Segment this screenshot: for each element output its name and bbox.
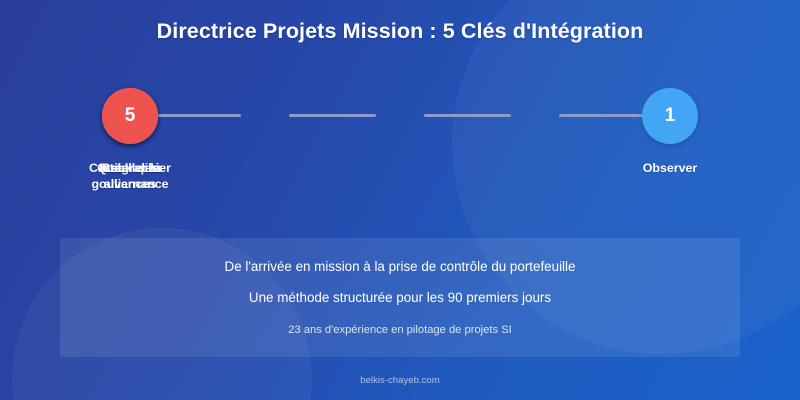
summary-line-1: De l'arrivée en mission à la prise de co… (60, 259, 740, 274)
page-title: Directrice Projets Mission : 5 Clés d'In… (0, 19, 800, 44)
steps-timeline: 1 Observer 2 Cartographier 3 Créer des a… (62, 88, 738, 208)
step-item-1[interactable]: 1 Observer (602, 88, 738, 176)
step-connector-3-4 (424, 114, 511, 117)
step-label-1: Observer (602, 160, 738, 176)
step-connector-2-3 (289, 114, 376, 117)
step-number-badge-1: 1 (642, 88, 698, 144)
infographic-slide: Directrice Projets Mission : 5 Clés d'In… (0, 0, 800, 400)
step-item-5[interactable]: 5 Installer la gouvernance (62, 88, 198, 192)
summary-line-3: 23 ans d'expérience en pilotage de proje… (60, 324, 740, 336)
step-label-5: Installer la gouvernance (62, 160, 198, 192)
step-number-badge-5: 5 (102, 88, 158, 144)
footer-website: belkis-chayeb.com (0, 375, 800, 386)
summary-line-2: Une méthode structurée pour les 90 premi… (60, 290, 740, 305)
summary-panel: De l'arrivée en mission à la prise de co… (60, 238, 740, 357)
